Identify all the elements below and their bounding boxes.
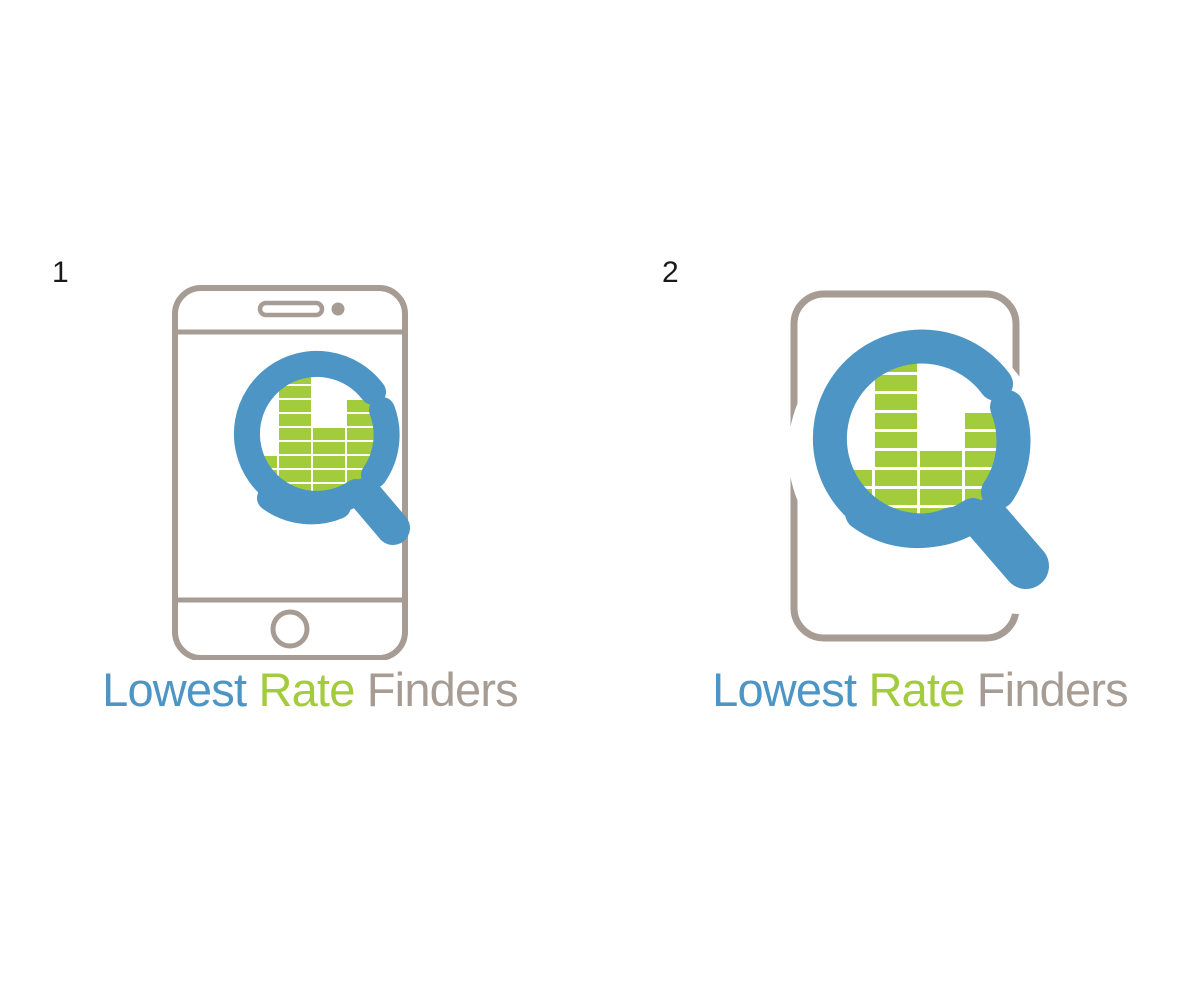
wordmark-finders: Finders [367,663,518,716]
phone-magnifier-mark-broken [730,270,1110,660]
magnifier-ring-bottom [862,513,952,531]
magnifier-handle [988,522,1026,566]
logo-mark-1[interactable] [40,270,580,660]
magnifier-ring-bottom [270,498,338,511]
magnifier-ring-segment [998,407,1013,492]
wordmark-rate: Rate [868,663,964,716]
wordmark-lowest: Lowest [102,663,246,716]
wordmark-finders: Finders [977,663,1128,716]
logo-concepts-canvas: 1 [0,0,1200,1000]
magnifier-handle [365,495,393,528]
wordmark-1: LowestRateFinders [40,665,580,714]
magnifier-logo-icon [830,347,1026,581]
logo-mark-2[interactable] [650,270,1190,660]
logo-concept-2[interactable]: 2 [650,250,1190,750]
magnifier-ring-segment [374,410,387,475]
wordmark-2: LowestRateFinders [650,665,1190,714]
phone-magnifier-mark-solid [160,270,460,660]
wordmark-lowest: Lowest [712,663,856,716]
logo-concept-1[interactable]: 1 [40,250,580,750]
wordmark-rate: Rate [258,663,354,716]
camera-dot-icon [332,303,345,316]
